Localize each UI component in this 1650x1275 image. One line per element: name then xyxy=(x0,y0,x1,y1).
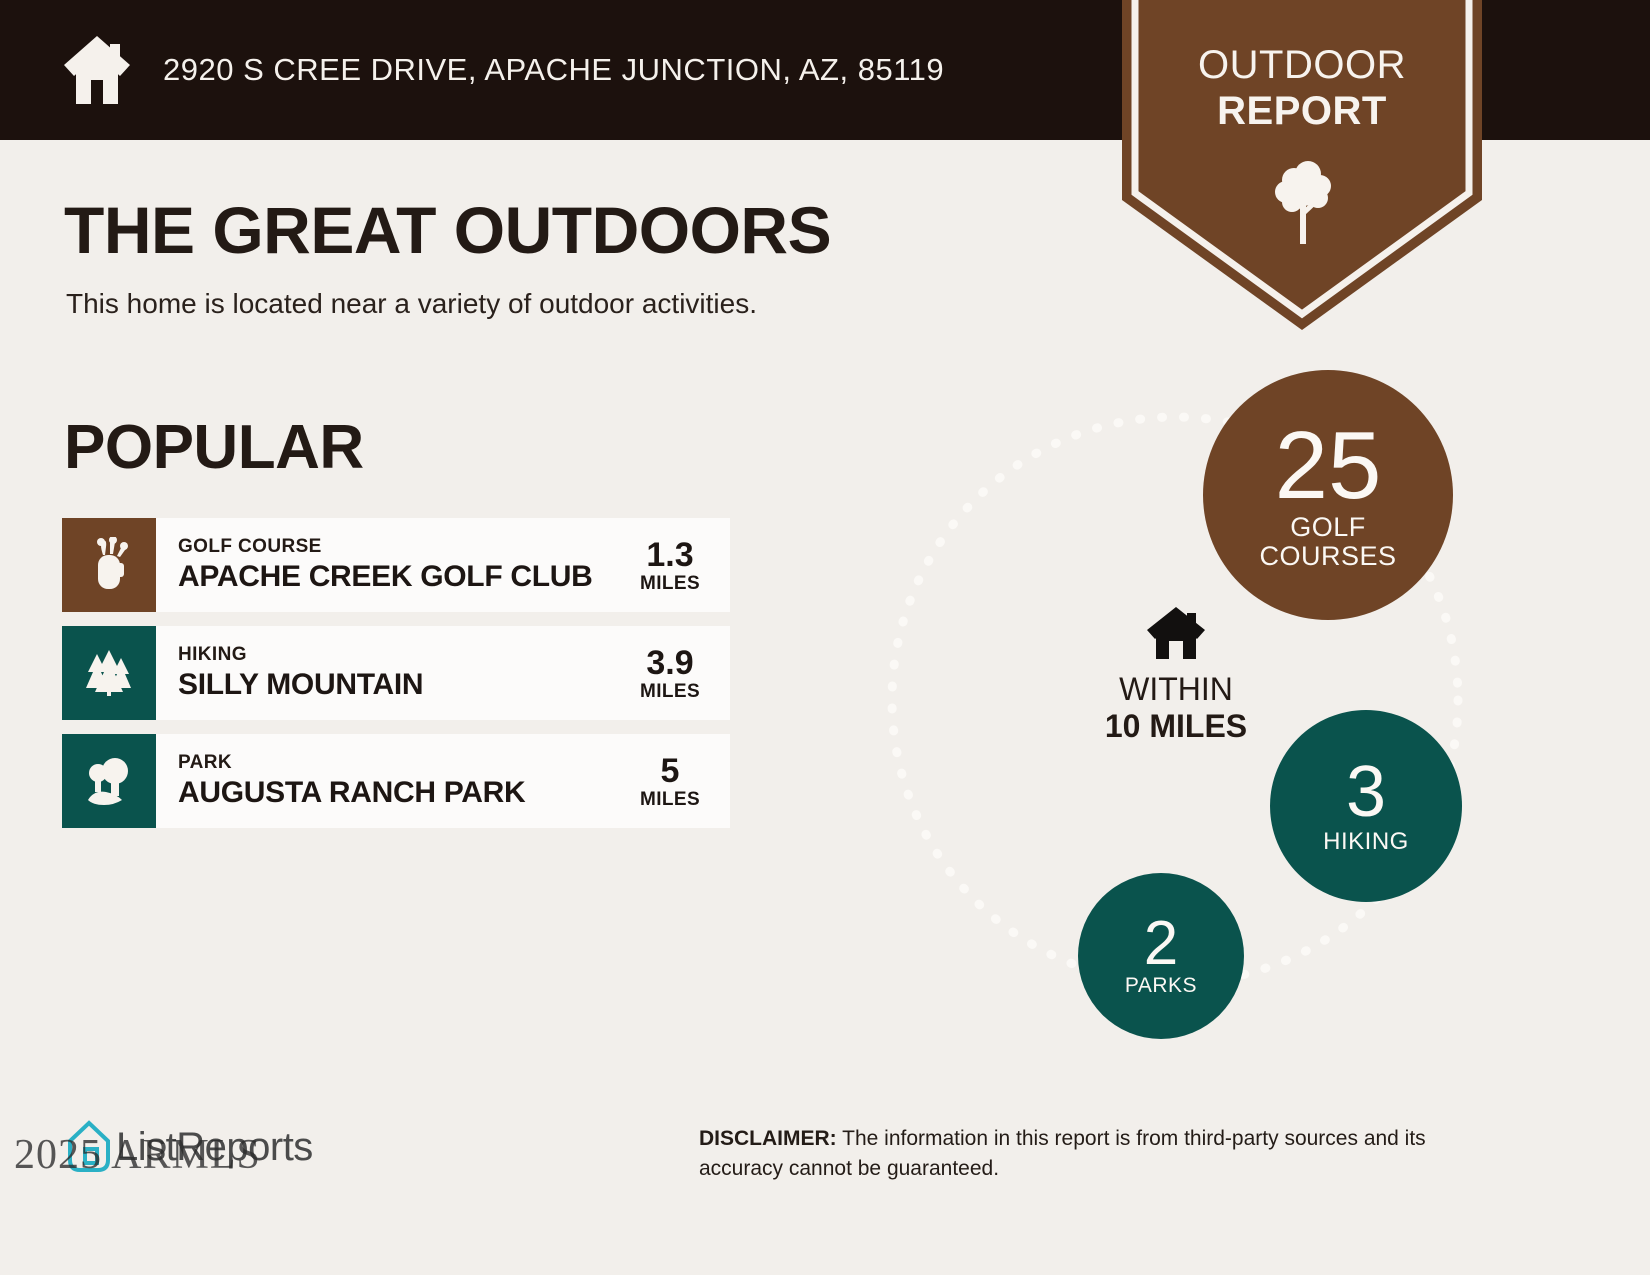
list-item-name: APACHE CREEK GOLF CLUB xyxy=(178,560,593,594)
distance-unit: MILES xyxy=(628,574,712,593)
home-icon xyxy=(1145,605,1207,661)
distance-unit: MILES xyxy=(628,790,712,809)
bubble-count: 2 xyxy=(1144,915,1178,974)
bubble-label-line1: PARKS xyxy=(1125,975,1197,997)
disclaimer: DISCLAIMER: The information in this repo… xyxy=(699,1124,1511,1184)
bubble-golf-courses[interactable]: 25 GOLF COURSES xyxy=(1203,370,1453,620)
disclaimer-label: DISCLAIMER: xyxy=(699,1127,837,1150)
popular-heading: POPULAR xyxy=(64,412,364,483)
list-item-body: PARK AUGUSTA RANCH PARK 5 MILES xyxy=(156,734,730,828)
badge-title: OUTDOOR REPORT xyxy=(1122,42,1482,134)
list-item-distance: 5 MILES xyxy=(628,754,712,809)
distance-value: 1.3 xyxy=(628,538,712,572)
list-item-body: GOLF COURSE APACHE CREEK GOLF CLUB 1.3 M… xyxy=(156,518,730,612)
center-line-1: WITHIN xyxy=(1041,671,1311,708)
list-item[interactable]: HIKING SILLY MOUNTAIN 3.9 MILES xyxy=(62,626,730,720)
list-item-category: GOLF COURSE xyxy=(178,536,593,558)
armls-watermark: 2025 ARMLS xyxy=(14,1131,261,1179)
center-line-2: 10 MILES xyxy=(1041,708,1311,745)
badge-line-1: OUTDOOR xyxy=(1122,42,1482,88)
bubble-count: 3 xyxy=(1346,758,1386,826)
popular-list: GOLF COURSE APACHE CREEK GOLF CLUB 1.3 M… xyxy=(62,518,730,842)
outdoor-report-page: 2920 S CREE DRIVE, APACHE JUNCTION, AZ, … xyxy=(0,0,1650,1275)
property-address: 2920 S CREE DRIVE, APACHE JUNCTION, AZ, … xyxy=(163,52,944,88)
list-item-body: HIKING SILLY MOUNTAIN 3.9 MILES xyxy=(156,626,730,720)
list-item-name: SILLY MOUNTAIN xyxy=(178,668,423,702)
distance-value: 5 xyxy=(628,754,712,788)
distance-unit: MILES xyxy=(628,682,712,701)
distance-value: 3.9 xyxy=(628,646,712,680)
pine-trees-icon xyxy=(62,626,156,720)
list-item-name: AUGUSTA RANCH PARK xyxy=(178,776,525,810)
badge-line-2: REPORT xyxy=(1122,88,1482,134)
tree-icon xyxy=(1274,160,1332,246)
proximity-diagram: 25 GOLF COURSES 3 HIKING 2 PARKS WITHIN … xyxy=(845,360,1505,1040)
outdoor-report-badge: OUTDOOR REPORT xyxy=(1122,0,1482,330)
list-item-category: PARK xyxy=(178,752,525,774)
bubble-parks[interactable]: 2 PARKS xyxy=(1078,873,1244,1039)
bubble-label-line2: COURSES xyxy=(1259,542,1396,570)
page-title: THE GREAT OUTDOORS xyxy=(64,192,831,268)
bubble-label-line1: HIKING xyxy=(1323,829,1409,854)
diagram-center: WITHIN 10 MILES xyxy=(1041,605,1311,745)
list-item-category: HIKING xyxy=(178,644,423,666)
bubble-count: 25 xyxy=(1275,420,1382,511)
list-item-distance: 3.9 MILES xyxy=(628,646,712,701)
park-trees-icon xyxy=(62,734,156,828)
bubble-label-line1: GOLF xyxy=(1290,513,1366,541)
page-subtitle: This home is located near a variety of o… xyxy=(66,288,757,320)
list-item[interactable]: GOLF COURSE APACHE CREEK GOLF CLUB 1.3 M… xyxy=(62,518,730,612)
list-item[interactable]: PARK AUGUSTA RANCH PARK 5 MILES xyxy=(62,734,730,828)
golf-bag-icon xyxy=(62,518,156,612)
list-item-distance: 1.3 MILES xyxy=(628,538,712,593)
home-icon xyxy=(62,34,132,106)
